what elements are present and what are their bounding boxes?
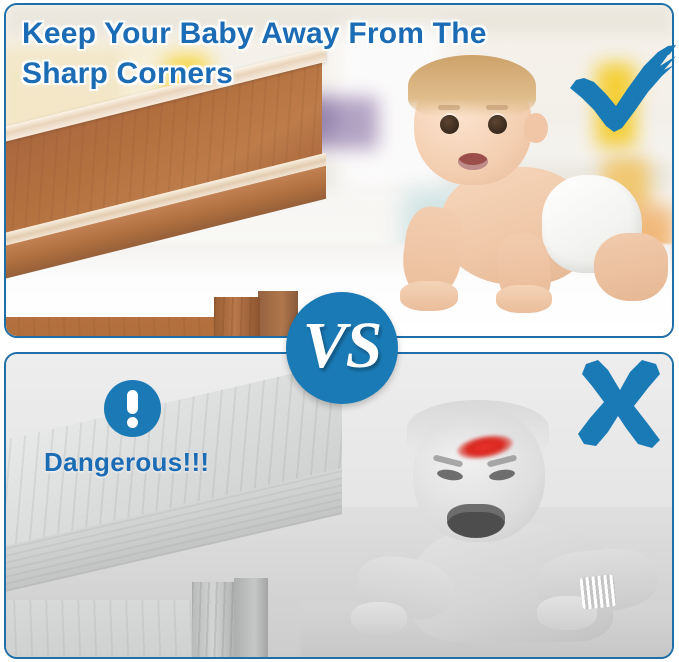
table-apron — [6, 317, 228, 336]
baby-mouth — [458, 153, 488, 170]
protected-table-corner — [6, 121, 322, 336]
baby-eye-left — [440, 115, 459, 134]
gray-table-leg-front — [192, 582, 234, 657]
danger-label: Dangerous!!! — [44, 447, 209, 478]
baby-ear — [524, 113, 548, 143]
baby-hair — [408, 55, 536, 117]
vs-badge: VS — [286, 292, 398, 404]
exclamation-icon — [104, 380, 161, 437]
baby-eyebrow-right — [486, 105, 508, 110]
infographic-stage: Keep Your Baby Away From The Sharp Corne… — [0, 0, 679, 662]
baby-hand-right — [496, 285, 552, 313]
baby-hand-left — [400, 281, 458, 311]
x-mark-icon — [572, 358, 668, 450]
gray-table-leg-back — [234, 578, 268, 657]
vs-label: VS — [303, 313, 382, 379]
forehead-injury-mark — [456, 431, 515, 462]
table-leg-front — [214, 297, 260, 336]
baby-eyebrow-left — [438, 105, 460, 110]
check-mark-icon — [564, 44, 679, 136]
baby-eye-right — [488, 115, 507, 134]
baby-leg — [594, 233, 668, 301]
gray-table-apron — [6, 600, 216, 657]
exclamation-glyph — [127, 390, 138, 428]
